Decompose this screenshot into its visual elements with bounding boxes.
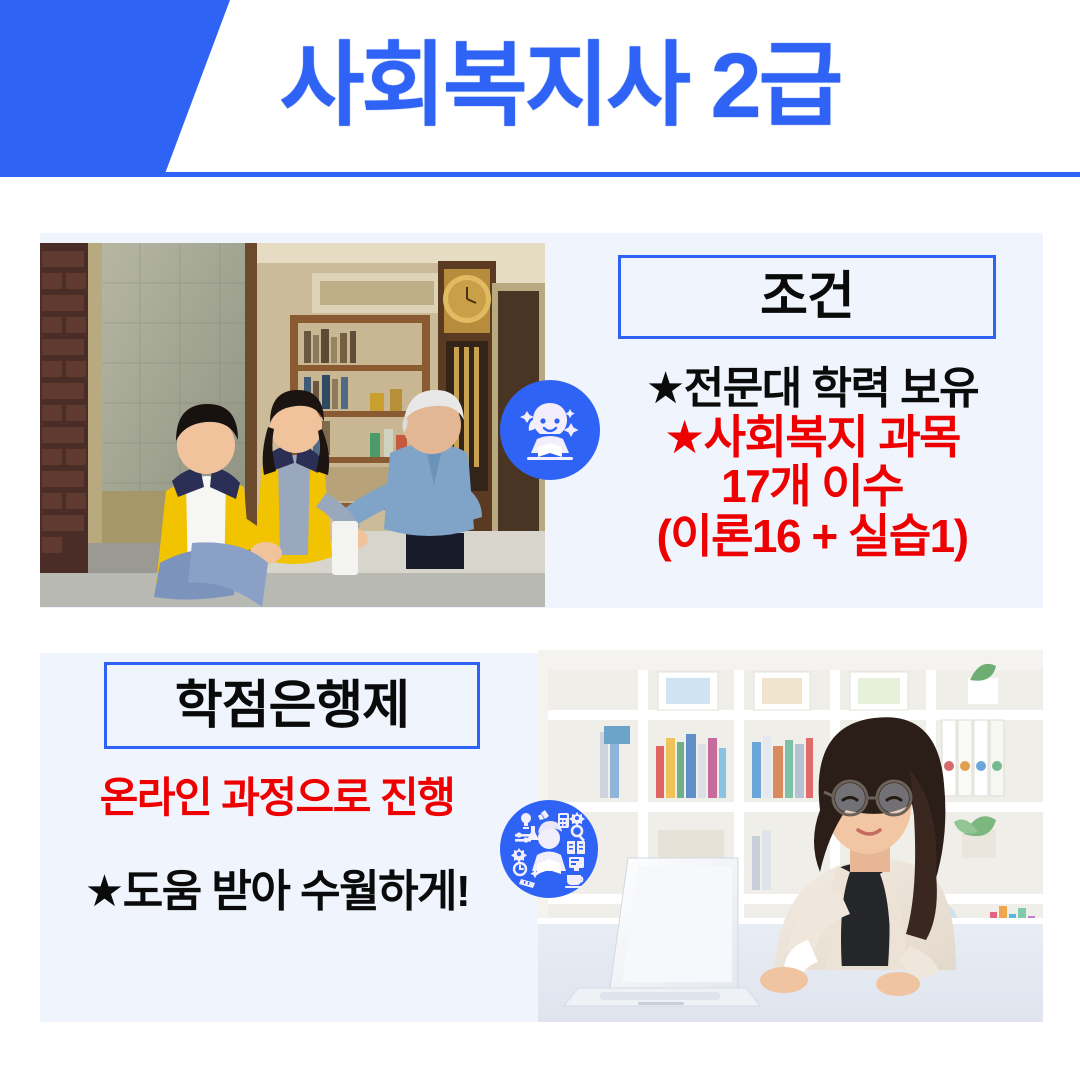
credit-bank-label-box: 학점은행제 bbox=[104, 662, 480, 749]
condition-text-block: ★전문대 학력 보유 ★사회복지 과목 17개 이수 (이론16 + 실습1) bbox=[592, 365, 1032, 562]
study-icons-icon bbox=[500, 800, 598, 898]
condition-label-box: 조건 bbox=[618, 255, 996, 339]
condition-line-1: ★전문대 학력 보유 bbox=[592, 365, 1032, 413]
header-divider bbox=[0, 172, 1080, 177]
page-header: 사회복지사 2급 bbox=[0, 0, 1080, 177]
condition-label-text: 조건 bbox=[760, 271, 854, 323]
credit-line-2: ★도움 받아 수월하게! bbox=[42, 868, 512, 916]
student-reading-icon bbox=[500, 380, 600, 480]
credit-bank-label-text: 학점은행제 bbox=[175, 680, 409, 732]
condition-line-4: (이론16 + 실습1) bbox=[592, 512, 1032, 562]
condition-line-2: ★사회복지 과목 bbox=[592, 413, 1032, 463]
page-title: 사회복지사 2급 bbox=[0, 0, 1080, 172]
photo-woman-with-laptop bbox=[538, 650, 1043, 1022]
credit-line-1: 온라인 과정으로 진행 bbox=[42, 775, 512, 820]
photo-volunteers-with-elderly bbox=[40, 243, 545, 607]
condition-line-3: 17개 이수 bbox=[592, 462, 1032, 512]
credit-bank-text-block: 온라인 과정으로 진행 ★도움 받아 수월하게! bbox=[42, 775, 512, 916]
